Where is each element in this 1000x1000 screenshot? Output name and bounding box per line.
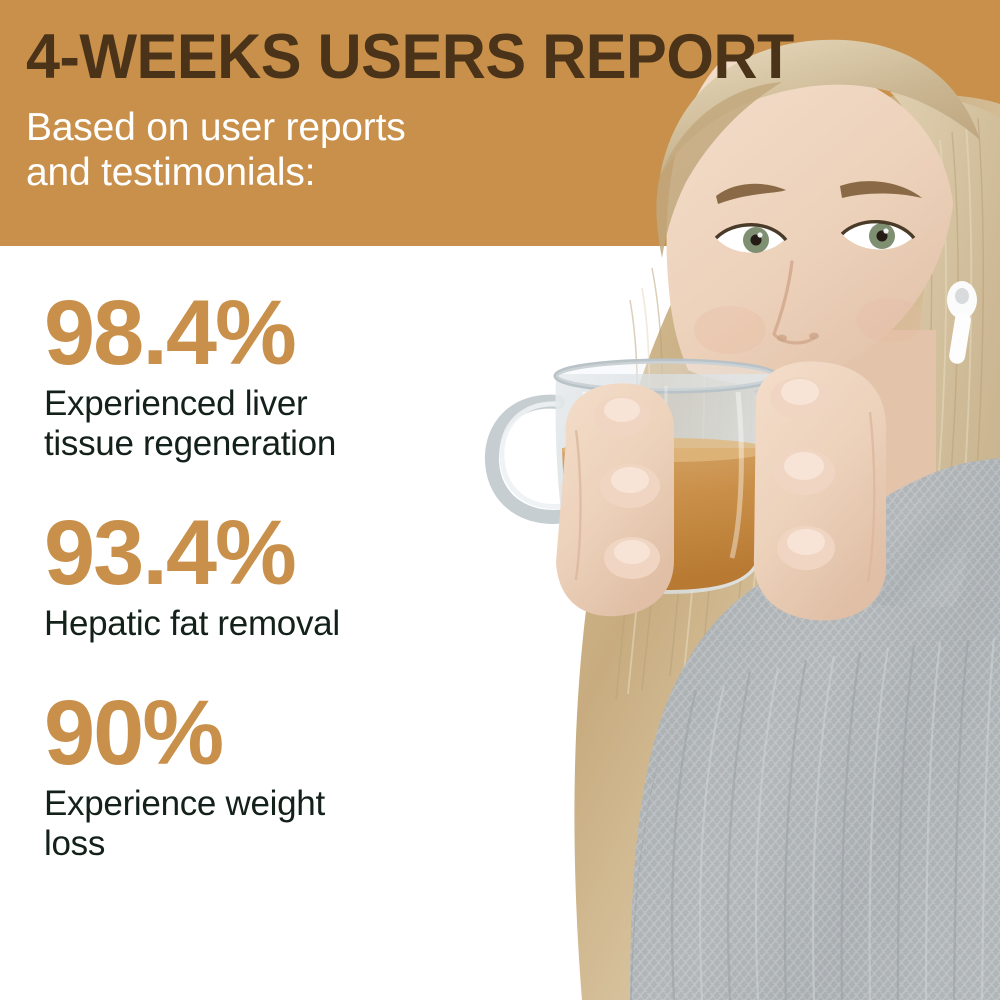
header-text-block: 4-WEEKS USERS REPORT Based on user repor… xyxy=(0,0,760,246)
stat-label: Hepatic fat removal xyxy=(44,604,434,644)
stat-value: 90% xyxy=(44,688,464,778)
infographic-poster: 4-WEEKS USERS REPORT Based on user repor… xyxy=(0,0,1000,1000)
stat-item-weight-loss: 90% Experience weight loss xyxy=(44,688,464,864)
subtitle-line-2: and testimonials: xyxy=(26,150,760,195)
stat-label-line-1: Experienced liver xyxy=(44,384,434,424)
stat-label: Experienced liver tissue regeneration xyxy=(44,384,434,464)
right-hand xyxy=(754,361,886,620)
glass-mug xyxy=(492,361,777,594)
stat-item-liver-regeneration: 98.4% Experienced liver tissue regenerat… xyxy=(44,288,464,464)
stat-label-line-2: tissue regeneration xyxy=(44,424,434,464)
stat-label-line-1: Experience weight xyxy=(44,784,434,824)
stat-item-hepatic-fat-removal: 93.4% Hepatic fat removal xyxy=(44,508,464,644)
page-title: 4-WEEKS USERS REPORT xyxy=(26,26,738,89)
left-hand xyxy=(556,383,674,616)
stat-value: 93.4% xyxy=(44,508,464,598)
stat-label: Experience weight loss xyxy=(44,784,434,864)
stat-value: 98.4% xyxy=(44,288,464,378)
earbud xyxy=(947,281,977,365)
stat-label-line-2: loss xyxy=(44,824,434,864)
statistics-list: 98.4% Experienced liver tissue regenerat… xyxy=(44,288,464,864)
stat-label-line-1: Hepatic fat removal xyxy=(44,604,434,644)
subtitle-line-1: Based on user reports xyxy=(26,105,760,150)
page-subtitle: Based on user reports and testimonials: xyxy=(26,105,760,195)
